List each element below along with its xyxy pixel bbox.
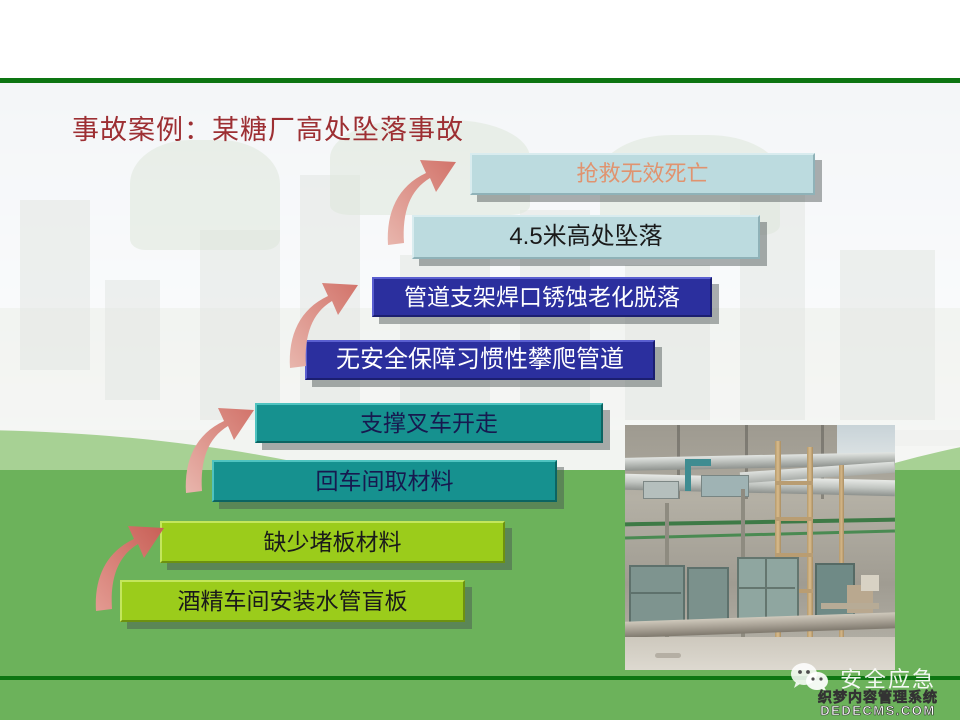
watermark-line-2: DEDECMS.COM	[818, 704, 938, 718]
curved-arrow-icon-4	[78, 506, 183, 616]
slide-root: 事故案例：某糖厂高处坠落事故	[0, 0, 960, 720]
watermark: 织梦内容管理系统 DEDECMS.COM	[818, 690, 938, 718]
chain-bar-death[interactable]: 抢救无效死亡	[470, 153, 815, 195]
page-title: 事故案例：某糖厂高处坠落事故	[72, 108, 464, 147]
chain-bar-label: 管道支架焊口锈蚀老化脱落	[404, 286, 680, 309]
chain-bar-label: 支撑叉车开走	[360, 412, 498, 435]
chain-bar-label: 酒精车间安装水管盲板	[178, 590, 408, 613]
chain-bar-label: 抢救无效死亡	[576, 163, 708, 185]
chain-bar-label: 回车间取材料	[316, 470, 454, 493]
chain-bar-forklift-leaves[interactable]: 支撑叉车开走	[255, 403, 603, 443]
watermark-line-1: 织梦内容管理系统	[818, 690, 938, 705]
chain-bar-label: 缺少堵板材料	[264, 531, 402, 554]
chain-bar-label: 无安全保障习惯性攀爬管道	[336, 348, 624, 372]
chain-bar-bracket-rust[interactable]: 管道支架焊口锈蚀老化脱落	[372, 277, 712, 317]
curved-arrow-icon-1	[370, 140, 480, 250]
curved-arrow-icon-2	[272, 263, 377, 373]
chain-bar-label: 4.5米高处坠落	[509, 225, 662, 249]
top-divider-rule	[0, 78, 960, 83]
curved-arrow-icon-3	[168, 388, 273, 498]
chain-bar-lack-material[interactable]: 缺少堵板材料	[160, 521, 505, 563]
accident-site-photo	[625, 425, 895, 670]
